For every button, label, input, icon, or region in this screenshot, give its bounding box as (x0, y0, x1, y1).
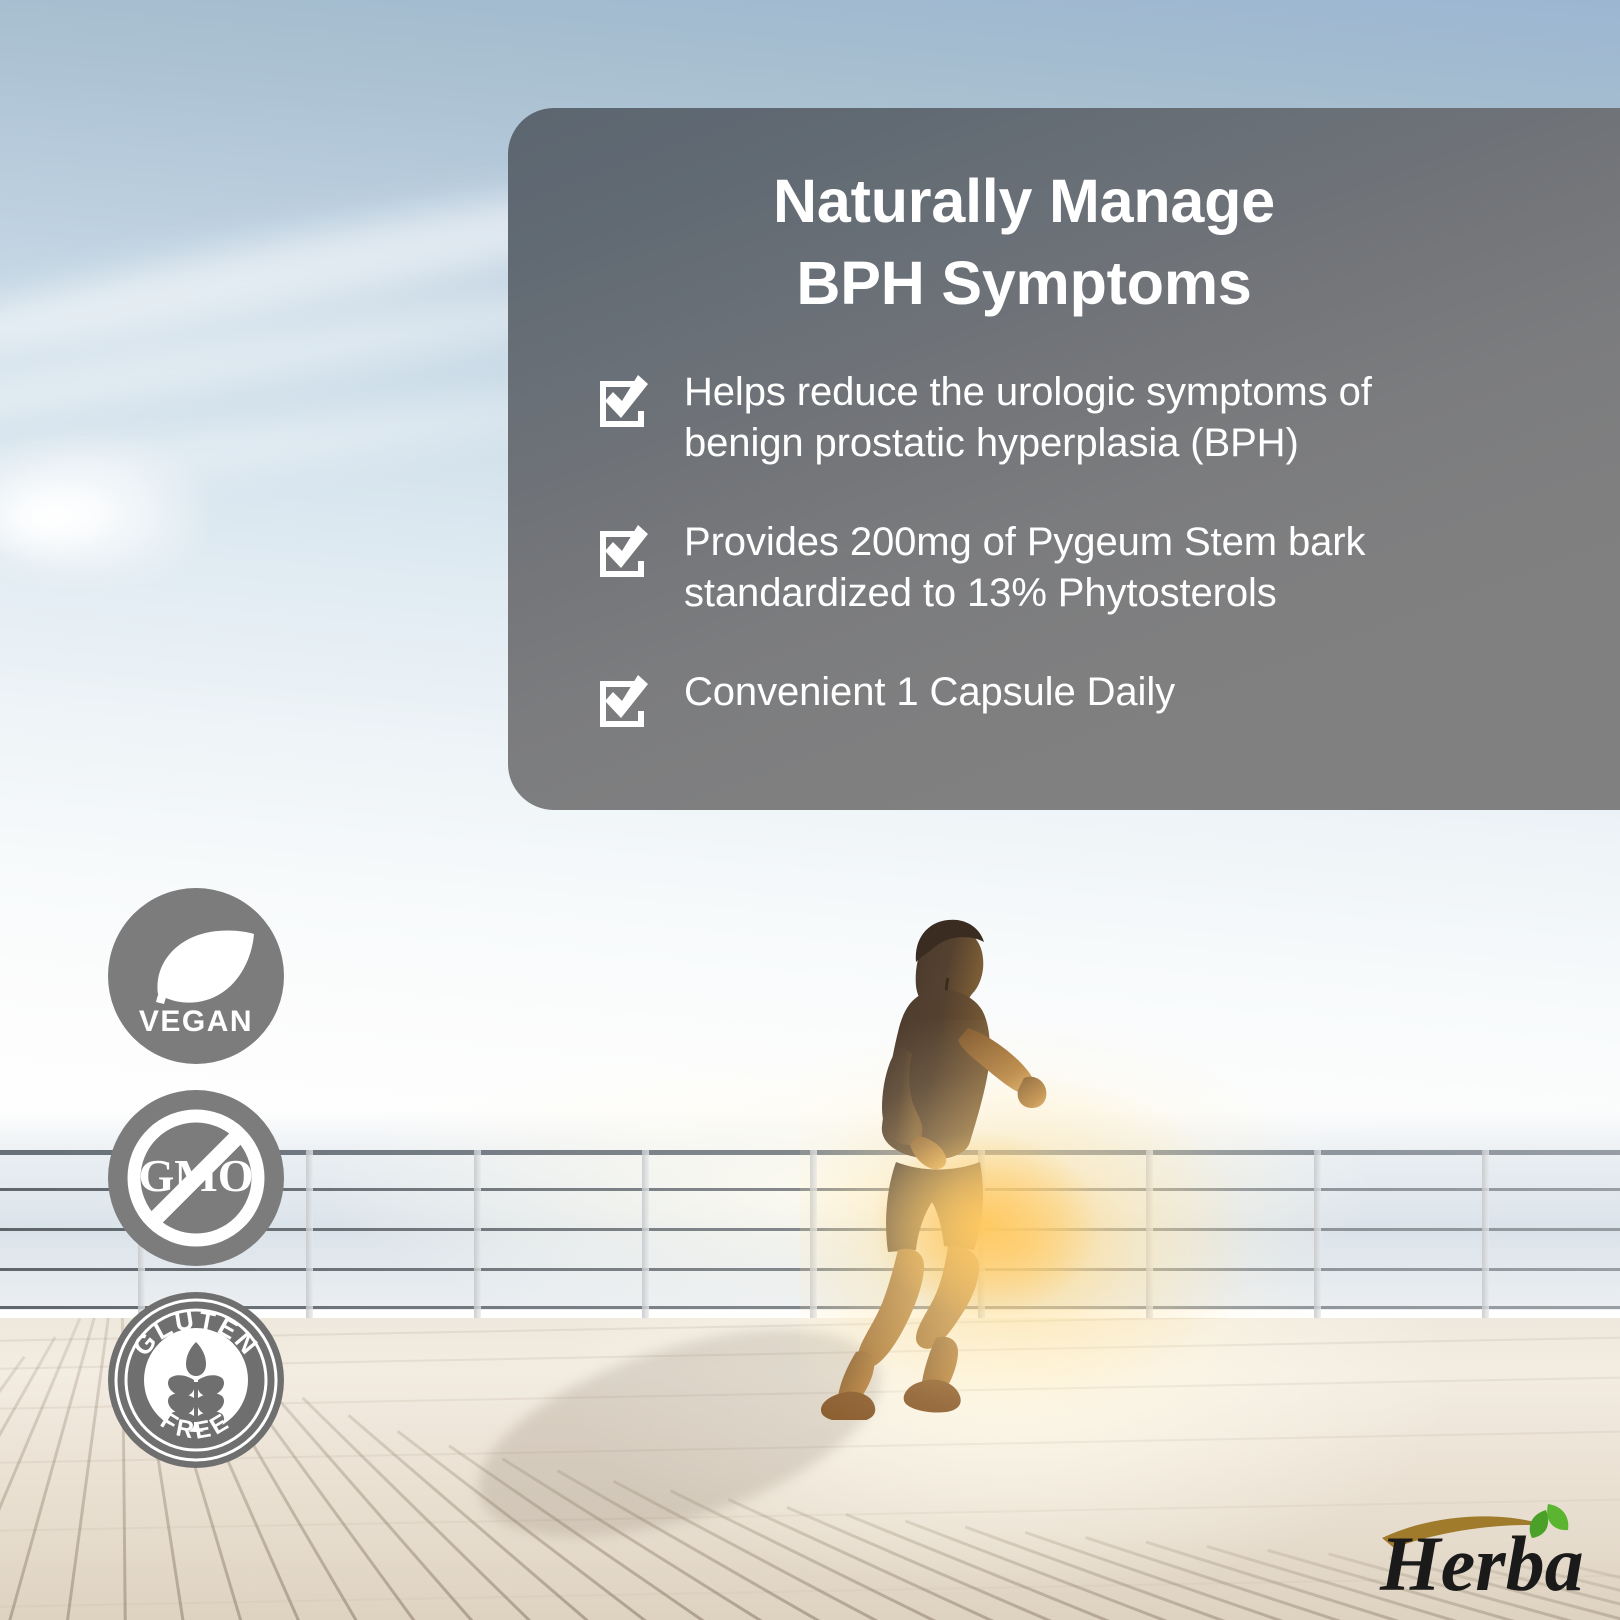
bullet-1-line-2: benign prostatic hyperplasia (BPH) (684, 418, 1372, 469)
badge-non-gmo: GMO (106, 1088, 286, 1268)
logo-wordmark: Herba (1379, 1520, 1584, 1606)
infographic-canvas: Naturally Manage BPH Symptoms Helps redu… (0, 0, 1620, 1620)
bullet-1-line-1: Helps reduce the urologic symptoms of (684, 367, 1372, 418)
bullet-2-line-1: Provides 200mg of Pygeum Stem bark (684, 517, 1365, 568)
title-line-1: Naturally Manage (596, 160, 1452, 242)
list-item: Convenient 1 Capsule Daily (596, 667, 1470, 733)
svg-text:GMO: GMO (139, 1150, 254, 1201)
rail-post (306, 1150, 313, 1330)
runner-silhouette (780, 900, 1100, 1420)
list-item: Helps reduce the urologic symptoms of be… (596, 367, 1470, 469)
rail-post (1314, 1150, 1321, 1330)
rail-post (474, 1150, 481, 1330)
checkbox-checked-icon (596, 375, 654, 433)
checkbox-checked-icon (596, 675, 654, 733)
title-line-2: BPH Symptoms (596, 242, 1452, 324)
page-title: Naturally Manage BPH Symptoms (596, 160, 1470, 325)
bullet-3-line-1: Convenient 1 Capsule Daily (684, 667, 1175, 718)
svg-text:VEGAN: VEGAN (139, 1005, 253, 1038)
checkbox-checked-icon (596, 525, 654, 583)
list-item-text: Helps reduce the urologic symptoms of be… (684, 367, 1372, 469)
list-item-text: Convenient 1 Capsule Daily (684, 667, 1175, 718)
badge-vegan: VEGAN (106, 886, 286, 1066)
certification-badges: VEGAN GMO (106, 886, 296, 1470)
rail-post (1146, 1150, 1153, 1330)
benefits-card: Naturally Manage BPH Symptoms Helps redu… (508, 108, 1620, 810)
list-item-text: Provides 200mg of Pygeum Stem bark stand… (684, 517, 1365, 619)
brand-logo: Herba (1352, 1486, 1602, 1606)
list-item: Provides 200mg of Pygeum Stem bark stand… (596, 517, 1470, 619)
badge-gluten-free: GLUTEN FREE (106, 1290, 286, 1470)
rail-post (1482, 1150, 1489, 1330)
bullet-2-line-2: standardized to 13% Phytosterols (684, 568, 1365, 619)
benefits-list: Helps reduce the urologic symptoms of be… (596, 367, 1470, 734)
cloud-puff (0, 470, 130, 565)
rail-post (642, 1150, 649, 1330)
